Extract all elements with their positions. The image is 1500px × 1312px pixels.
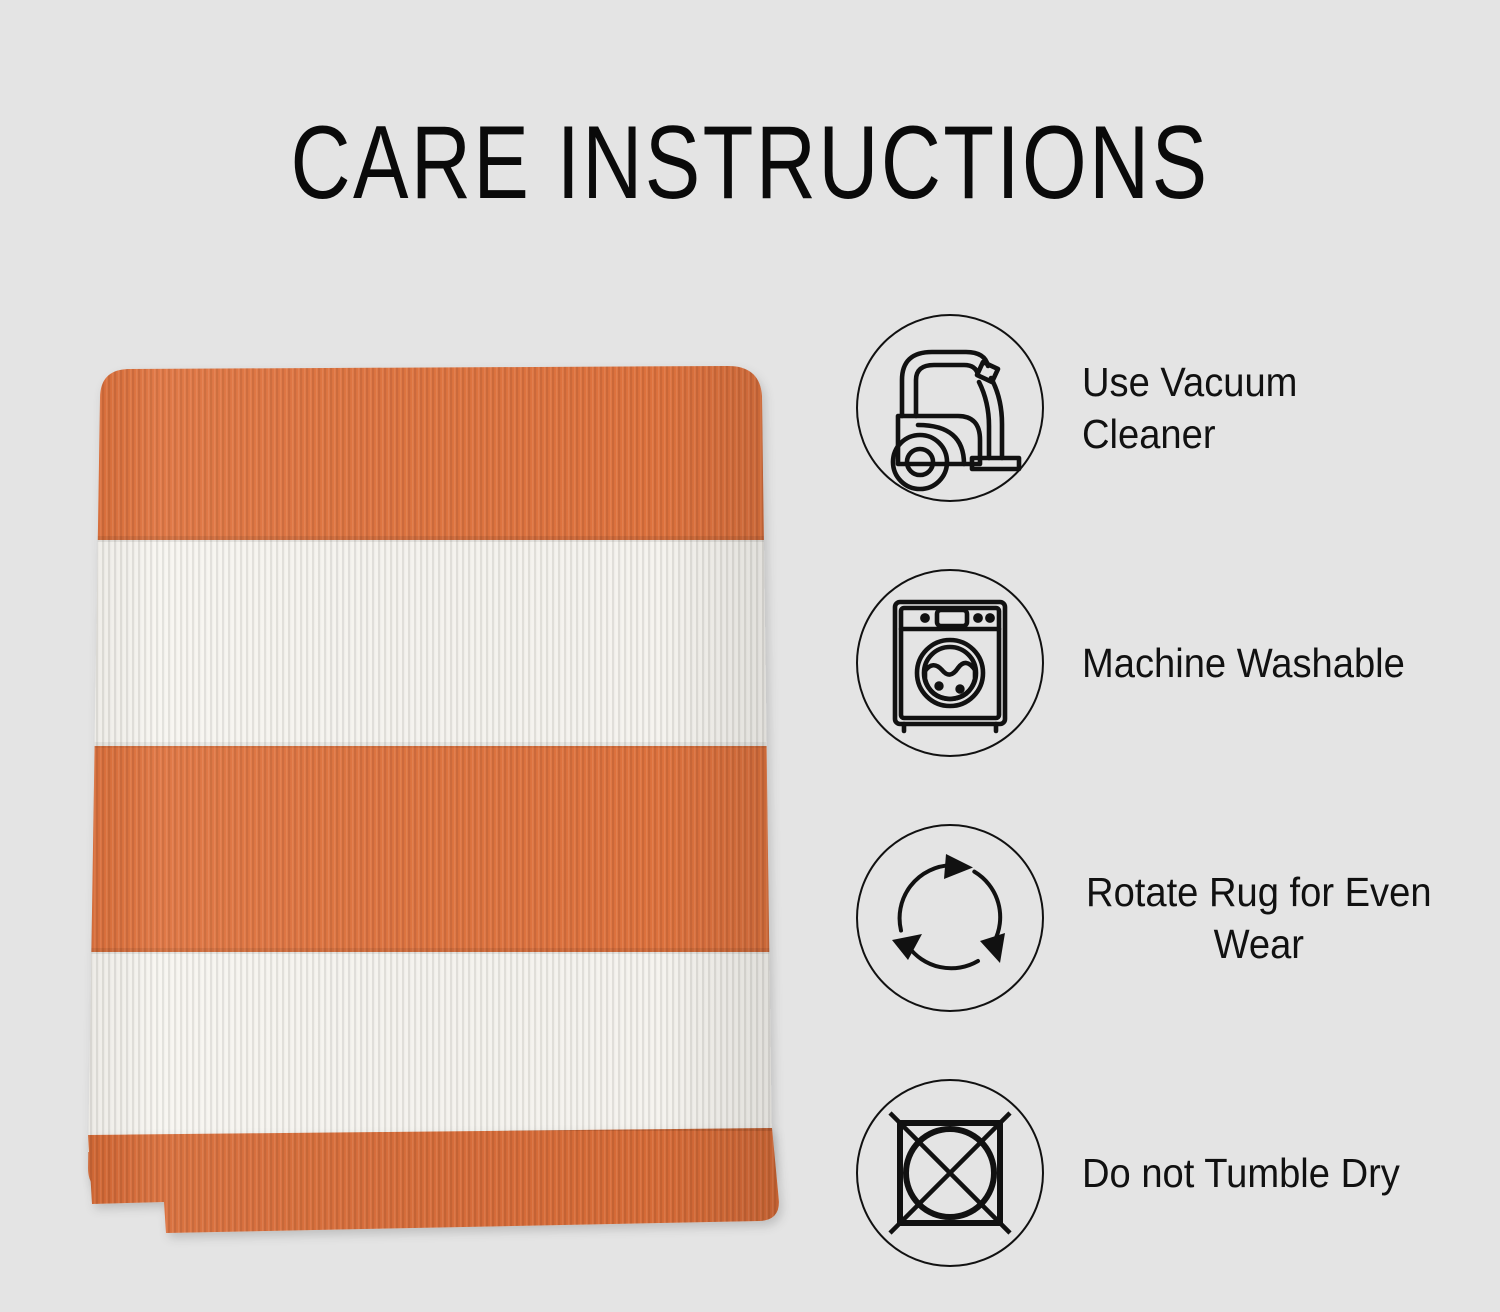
instruction-label-no-tumble-dry: Do not Tumble Dry	[1082, 1147, 1452, 1199]
vacuum-cleaner-icon	[854, 312, 1046, 504]
instruction-label-rotate: Rotate Rug for Even Wear	[1070, 866, 1451, 971]
instruction-item-machine-wash: Machine Washable	[840, 565, 1480, 761]
instruction-label-vacuum: Use Vacuum Cleaner	[1082, 356, 1452, 461]
instruction-item-no-tumble-dry: Do not Tumble Dry	[840, 1075, 1480, 1271]
do-not-tumble-dry-icon	[854, 1077, 1046, 1269]
rug-illustration	[48, 340, 838, 1260]
instruction-list: Use Vacuum Cleaner	[840, 300, 1480, 1260]
rotate-arrows-icon	[854, 822, 1046, 1014]
instruction-label-machine-wash: Machine Washable	[1082, 637, 1452, 689]
page-title: CARE INSTRUCTIONS	[150, 108, 1350, 218]
instruction-item-vacuum: Use Vacuum Cleaner	[840, 310, 1480, 506]
instruction-item-rotate: Rotate Rug for Even Wear	[840, 820, 1480, 1016]
care-instructions-infographic: CARE INSTRUCTIONS	[0, 0, 1500, 1312]
washing-machine-icon	[854, 567, 1046, 759]
product-image-folded-rug	[48, 340, 838, 1260]
